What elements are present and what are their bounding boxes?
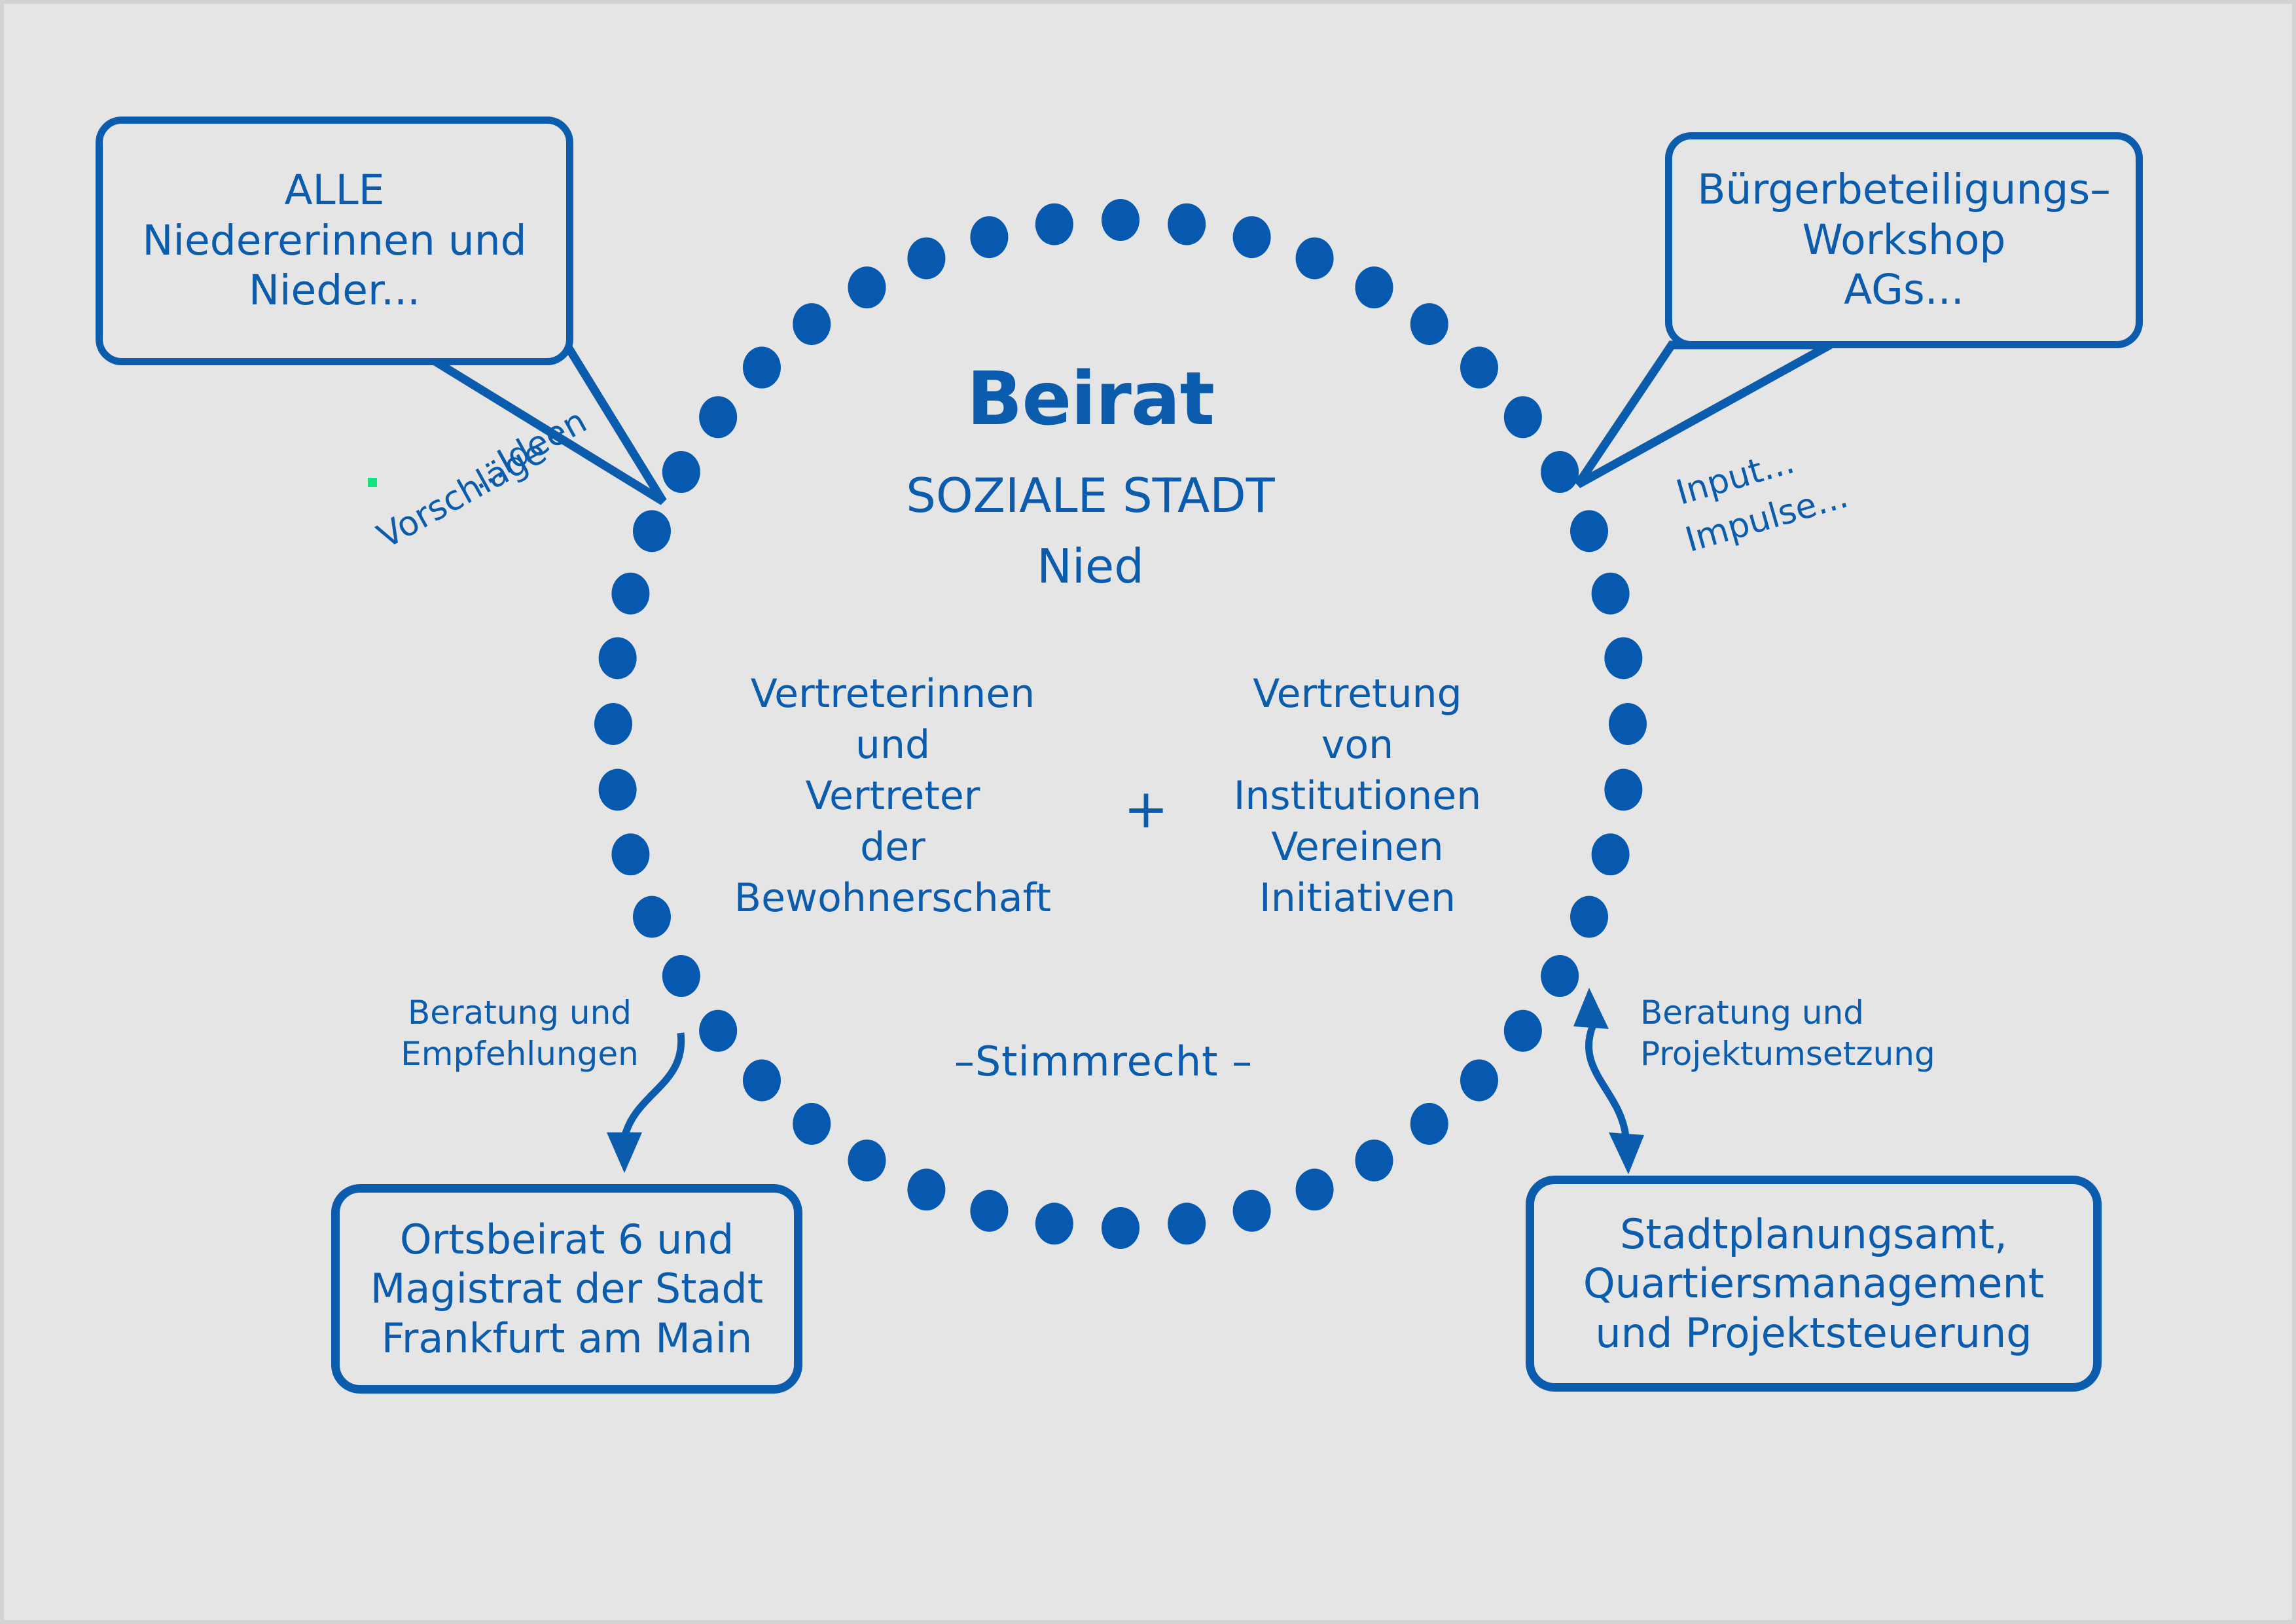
speech-bubble-workshop: Bürgerbeteiligungs– Workshop AGs... bbox=[1665, 132, 2143, 348]
ring-dot bbox=[1541, 451, 1579, 493]
ring-dot bbox=[633, 510, 671, 552]
ring-dot bbox=[1604, 769, 1642, 811]
ring-dot bbox=[662, 451, 700, 493]
ring-dot bbox=[1604, 637, 1642, 679]
ring-dot bbox=[1592, 833, 1630, 875]
ring-dot bbox=[848, 266, 886, 308]
ring-dot bbox=[599, 637, 637, 679]
ring-dot bbox=[1168, 204, 1206, 245]
ring-dot bbox=[1296, 238, 1334, 280]
ring-dot bbox=[1035, 204, 1073, 245]
speech-bubble-residents-text: ALLE Niedererinnen und Nieder... bbox=[142, 166, 526, 317]
ring-dot bbox=[1541, 955, 1579, 997]
ring-dot bbox=[907, 1168, 945, 1210]
ring-dot bbox=[1355, 1140, 1393, 1182]
ring-dot bbox=[1570, 510, 1608, 552]
diagram-canvas: ALLE Niedererinnen und Nieder... Bürgerb… bbox=[0, 0, 2296, 1624]
ring-dot bbox=[1102, 1207, 1139, 1249]
ring-dot bbox=[970, 1190, 1008, 1232]
ring-dot bbox=[1233, 216, 1271, 258]
ring-dot bbox=[699, 396, 737, 438]
annotation-beratung-projektumsetzung: Beratung und Projektumsetzung bbox=[1640, 992, 1948, 1074]
ring-dot bbox=[599, 769, 637, 811]
ring-dot bbox=[594, 703, 632, 745]
box-ortsbeirat-magistrat-text: Ortsbeirat 6 und Magistrat der Stadt Fra… bbox=[370, 1215, 763, 1363]
box-stadtplanungsamt: Stadtplanungsamt, Quartiersmanagement un… bbox=[1526, 1176, 2102, 1392]
ring-dot bbox=[907, 238, 945, 280]
ring-dot bbox=[793, 303, 831, 345]
plus-icon: + bbox=[1087, 783, 1205, 837]
ring-dot bbox=[793, 1103, 831, 1145]
ring-dot bbox=[1233, 1190, 1271, 1232]
ring-dot bbox=[1504, 1010, 1542, 1052]
ring-dot bbox=[662, 955, 700, 997]
ring-dot bbox=[633, 896, 671, 938]
speech-bubble-residents: ALLE Niedererinnen und Nieder... bbox=[96, 117, 573, 365]
ring-dot bbox=[1355, 266, 1393, 308]
ring-dot bbox=[1460, 1059, 1498, 1101]
subtitle-location: Nied bbox=[809, 539, 1372, 594]
ring-dot bbox=[1102, 199, 1139, 241]
green-flake-artifact bbox=[368, 478, 377, 487]
speech-bubble-workshop-text: Bürgerbeteiligungs– Workshop AGs... bbox=[1697, 165, 2110, 316]
ring-dot bbox=[611, 833, 649, 875]
ring-dot bbox=[970, 216, 1008, 258]
box-ortsbeirat-magistrat: Ortsbeirat 6 und Magistrat der Stadt Fra… bbox=[331, 1184, 802, 1394]
ring-dot bbox=[1504, 396, 1542, 438]
ring-dot bbox=[1609, 703, 1647, 745]
voting-rights-note: –Stimmrecht – bbox=[874, 1038, 1333, 1085]
arrow-head-right-up bbox=[1573, 988, 1609, 1029]
arrow-head-left bbox=[607, 1132, 642, 1173]
page-title: Beirat bbox=[809, 357, 1372, 442]
ring-dot bbox=[611, 573, 649, 615]
ring-dot bbox=[1410, 303, 1448, 345]
ring-dot bbox=[1168, 1202, 1206, 1244]
ring-dot bbox=[1592, 573, 1630, 615]
annotation-beratung-empfehlungen: Beratung und Empfehlungen bbox=[382, 992, 657, 1074]
ring-dot bbox=[1410, 1103, 1448, 1145]
double-arrow-icon-right bbox=[1588, 1025, 1626, 1136]
ring-dot bbox=[699, 1010, 737, 1052]
member-column-institutions: Vertretung von Institutionen Vereinen In… bbox=[1200, 668, 1515, 924]
ring-dot bbox=[1460, 347, 1498, 389]
ring-dot bbox=[743, 347, 781, 389]
ring-dot bbox=[1035, 1202, 1073, 1244]
ring-dot bbox=[1570, 896, 1608, 938]
ring-dot bbox=[743, 1059, 781, 1101]
arrow-head-right-down bbox=[1609, 1132, 1644, 1174]
box-stadtplanungsamt-text: Stadtplanungsamt, Quartiersmanagement un… bbox=[1583, 1210, 2044, 1358]
subtitle-soziale-stadt: SOZIALE STADT bbox=[809, 469, 1372, 524]
ring-dot bbox=[848, 1140, 886, 1182]
member-column-residents: Vertreterinnen und Vertreter der Bewohne… bbox=[690, 668, 1096, 924]
ring-dot bbox=[1296, 1168, 1334, 1210]
